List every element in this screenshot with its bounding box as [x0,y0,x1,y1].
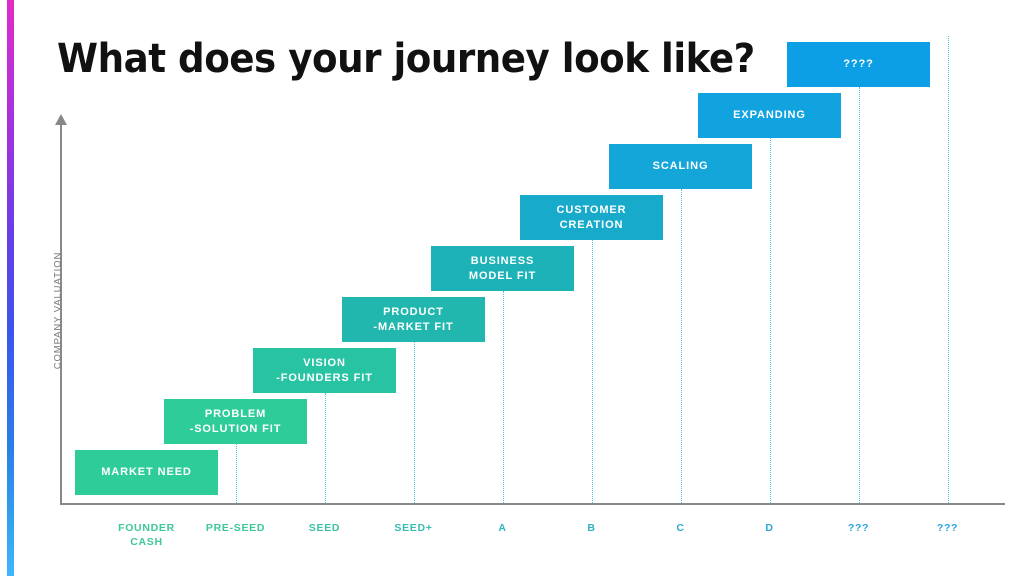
drop-line [770,138,773,503]
page-title: What does your journey look like? [57,36,755,82]
step-box-label-line: MARKET NEED [101,465,192,480]
step-box-pre-seed[interactable]: PROBLEM-SOLUTION FIT [164,399,307,444]
x-axis-tick-label-line: ??? [888,521,1008,535]
step-box-label-line: -MARKET FIT [373,320,453,335]
drop-line [592,240,595,503]
step-box-label: PRODUCT-MARKET FIT [373,305,453,335]
x-axis-line [60,503,1005,505]
drop-line [414,342,417,503]
step-box-label: SCALING [653,159,709,174]
x-axis-tick-label-line: CASH [87,535,207,549]
step-box-label-line: MODEL FIT [469,269,536,284]
y-axis-label: COMPANY VALUATION [53,231,64,391]
step-box-label-line: CUSTOMER [557,203,627,218]
step-box-label: MARKET NEED [101,465,192,480]
step-box-founder-cash[interactable]: MARKET NEED [75,450,218,495]
step-box-c[interactable]: SCALING [609,144,752,189]
step-box-label: VISION-FOUNDERS FIT [276,356,373,386]
slide-canvas: What does your journey look like? COMPAN… [0,0,1024,576]
step-box-seed[interactable]: VISION-FOUNDERS FIT [253,348,396,393]
step-box-label-line: BUSINESS [469,254,536,269]
step-box-label-line: -SOLUTION FIT [190,422,282,437]
x-axis-tick-label: ??? [888,521,1008,535]
step-box-label: PROBLEM-SOLUTION FIT [190,407,282,437]
step-box-seed[interactable]: PRODUCT-MARKET FIT [342,297,485,342]
step-box-label-line: -FOUNDERS FIT [276,371,373,386]
drop-line [325,393,328,503]
step-box-label: EXPANDING [733,108,806,123]
step-box-d[interactable]: EXPANDING [698,93,841,138]
step-box-label-line: ???? [843,57,873,72]
step-box-label: ???? [843,57,873,72]
gradient-accent-bar [7,0,14,576]
drop-line [948,36,951,503]
step-box-[interactable]: ???? [787,42,930,87]
step-box-label-line: CREATION [557,218,627,233]
step-box-label-line: EXPANDING [733,108,806,123]
step-box-label-line: PRODUCT [373,305,453,320]
drop-line [503,291,506,503]
step-box-label-line: VISION [276,356,373,371]
step-box-label-line: SCALING [653,159,709,174]
step-box-label: BUSINESSMODEL FIT [469,254,536,284]
step-box-b[interactable]: CUSTOMERCREATION [520,195,663,240]
step-box-label-line: PROBLEM [190,407,282,422]
step-box-a[interactable]: BUSINESSMODEL FIT [431,246,574,291]
drop-line [236,444,239,503]
drop-line [859,87,862,503]
step-box-label: CUSTOMERCREATION [557,203,627,233]
drop-line [681,189,684,503]
